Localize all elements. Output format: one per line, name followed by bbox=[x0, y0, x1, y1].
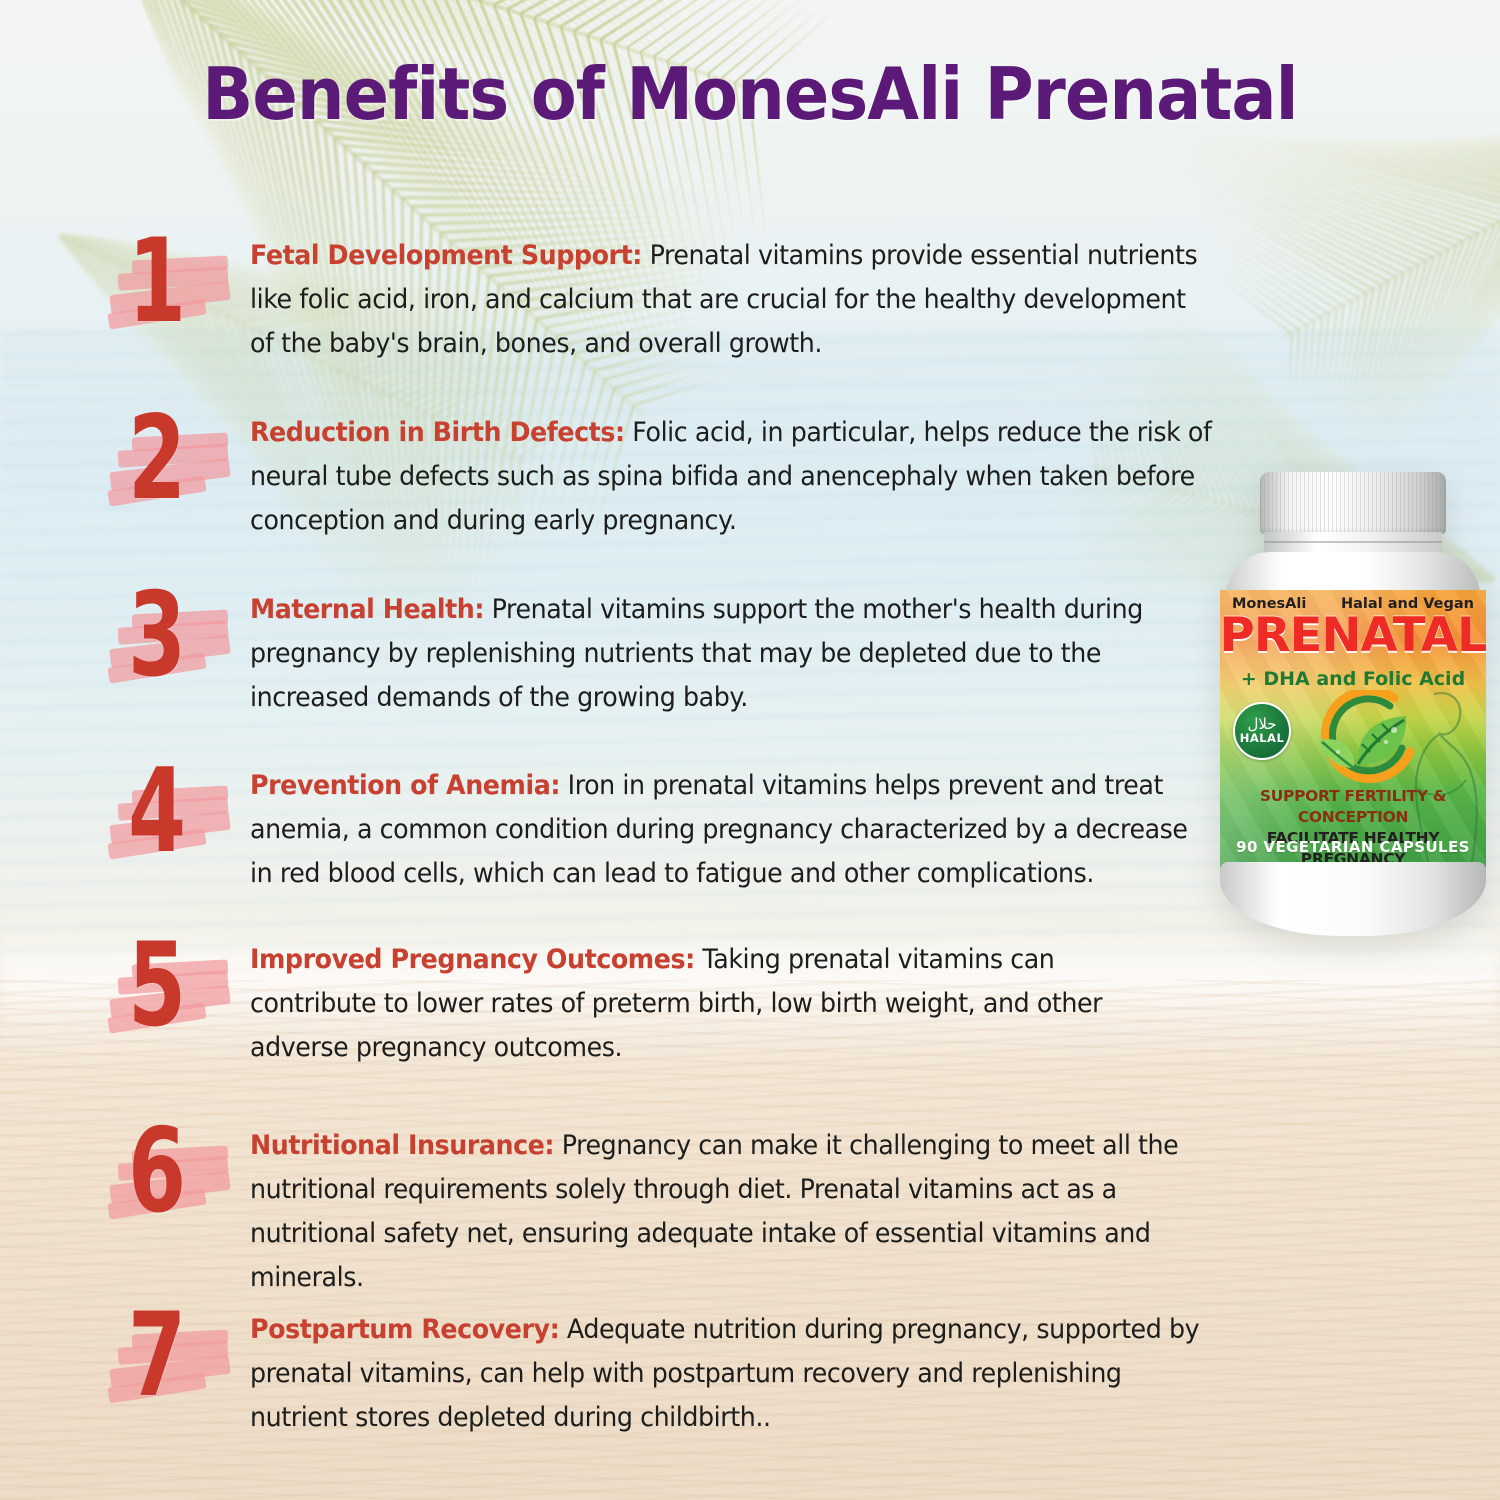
list-item: 2 Reduction in Birth Defects: Folic acid… bbox=[100, 405, 1280, 543]
benefit-heading: Prevention of Anemia: bbox=[250, 770, 560, 801]
benefit-number-badge: 5 bbox=[100, 932, 250, 1062]
benefit-number: 4 bbox=[128, 758, 186, 866]
benefit-heading: Nutritional Insurance: bbox=[250, 1130, 554, 1161]
benefit-number: 1 bbox=[128, 228, 186, 336]
infographic-poster: Benefits of MonesAli Prenatal 1 Fetal De… bbox=[0, 0, 1500, 1500]
benefit-heading: Reduction in Birth Defects: bbox=[250, 417, 625, 448]
benefit-text: Nutritional Insurance: Pregnancy can mak… bbox=[250, 1118, 1186, 1300]
product-name: PRENATAL bbox=[1220, 612, 1486, 660]
benefit-heading: Fetal Development Support: bbox=[250, 240, 642, 271]
benefit-number-badge: 6 bbox=[100, 1118, 250, 1248]
bottle-base bbox=[1220, 862, 1486, 936]
benefit-text: Fetal Development Support: Prenatal vita… bbox=[250, 228, 1205, 366]
benefit-heading: Maternal Health: bbox=[250, 594, 484, 625]
page-title: Benefits of MonesAli Prenatal bbox=[53, 52, 1448, 136]
benefit-heading: Postpartum Recovery: bbox=[250, 1314, 559, 1345]
benefit-text: Postpartum Recovery: Adequate nutrition … bbox=[250, 1302, 1200, 1440]
benefit-number: 6 bbox=[128, 1118, 186, 1226]
list-item: 7 Postpartum Recovery: Adequate nutritio… bbox=[100, 1302, 1245, 1440]
product-subtitle: + DHA and Folic Acid bbox=[1220, 668, 1486, 690]
benefit-number-badge: 7 bbox=[100, 1302, 250, 1432]
list-item: 3 Maternal Health: Prenatal vitamins sup… bbox=[100, 582, 1215, 720]
halal-badge-icon: حلال HALAL bbox=[1233, 702, 1291, 760]
list-item: 6 Nutritional Insurance: Pregnancy can m… bbox=[100, 1118, 1230, 1300]
capsule-count: 90 VEGETARIAN CAPSULES bbox=[1220, 838, 1486, 856]
benefit-text: Improved Pregnancy Outcomes: Taking pren… bbox=[250, 932, 1138, 1070]
benefit-number-badge: 2 bbox=[100, 405, 250, 535]
halal-arabic-text: حلال bbox=[1247, 717, 1276, 732]
claim-line-1: SUPPORT FERTILITY & CONCEPTION bbox=[1220, 786, 1486, 828]
benefit-number-badge: 1 bbox=[100, 228, 250, 358]
bottle-label: MonesAli Halal and Vegan PRENATAL + DHA … bbox=[1220, 590, 1486, 868]
benefit-number: 7 bbox=[128, 1302, 186, 1410]
benefit-text: Prevention of Anemia: Iron in prenatal v… bbox=[250, 758, 1210, 896]
benefit-number: 5 bbox=[128, 932, 186, 1040]
benefit-heading: Improved Pregnancy Outcomes: bbox=[250, 944, 695, 975]
list-item: 5 Improved Pregnancy Outcomes: Taking pr… bbox=[100, 932, 1180, 1070]
benefit-text: Reduction in Birth Defects: Folic acid, … bbox=[250, 405, 1234, 543]
benefit-number-badge: 3 bbox=[100, 582, 250, 712]
benefit-number-badge: 4 bbox=[100, 758, 250, 888]
benefit-text: Maternal Health: Prenatal vitamins suppo… bbox=[250, 582, 1172, 720]
benefit-number: 2 bbox=[128, 405, 186, 513]
list-item: 4 Prevention of Anemia: Iron in prenatal… bbox=[100, 758, 1255, 896]
list-item: 1 Fetal Development Support: Prenatal vi… bbox=[100, 228, 1250, 366]
benefit-number: 3 bbox=[128, 582, 186, 690]
halal-label-text: HALAL bbox=[1240, 732, 1285, 745]
product-bottle-image: MonesAli Halal and Vegan PRENATAL + DHA … bbox=[1212, 472, 1494, 942]
bottle-cap bbox=[1260, 472, 1446, 534]
